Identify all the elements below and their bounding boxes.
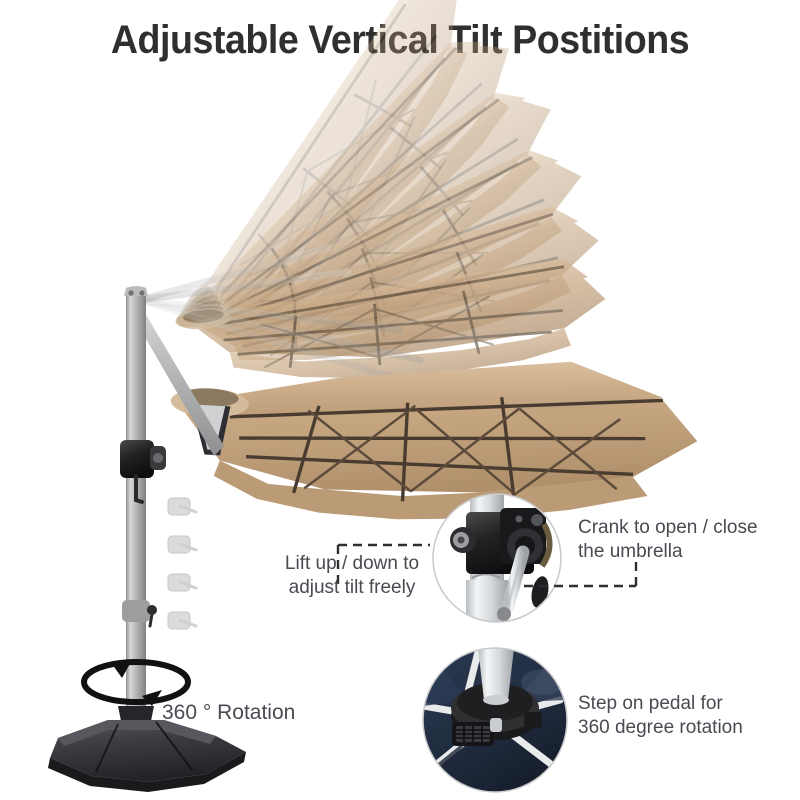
detail-circle-pedal	[423, 648, 567, 792]
callout-360-rotation: 360 ° Rotation	[162, 700, 362, 726]
tilt-position-fan	[158, 0, 612, 395]
detail-circle-crank	[433, 494, 561, 622]
tilt-lever-slots	[168, 498, 196, 629]
infographic-page: Adjustable Vertical Tilt Postitions	[0, 0, 800, 800]
product-illustration	[0, 0, 800, 800]
umbrella-base	[48, 720, 246, 792]
callout-step-on-pedal: Step on pedal for 360 degree rotation	[578, 692, 793, 740]
umbrella-illustration-svg	[0, 0, 800, 800]
callout-crank-open-close: Crank to open / close the umbrella	[578, 516, 788, 564]
callout-lift-adjust: Lift up / down to adjust tilt freely	[262, 552, 442, 600]
